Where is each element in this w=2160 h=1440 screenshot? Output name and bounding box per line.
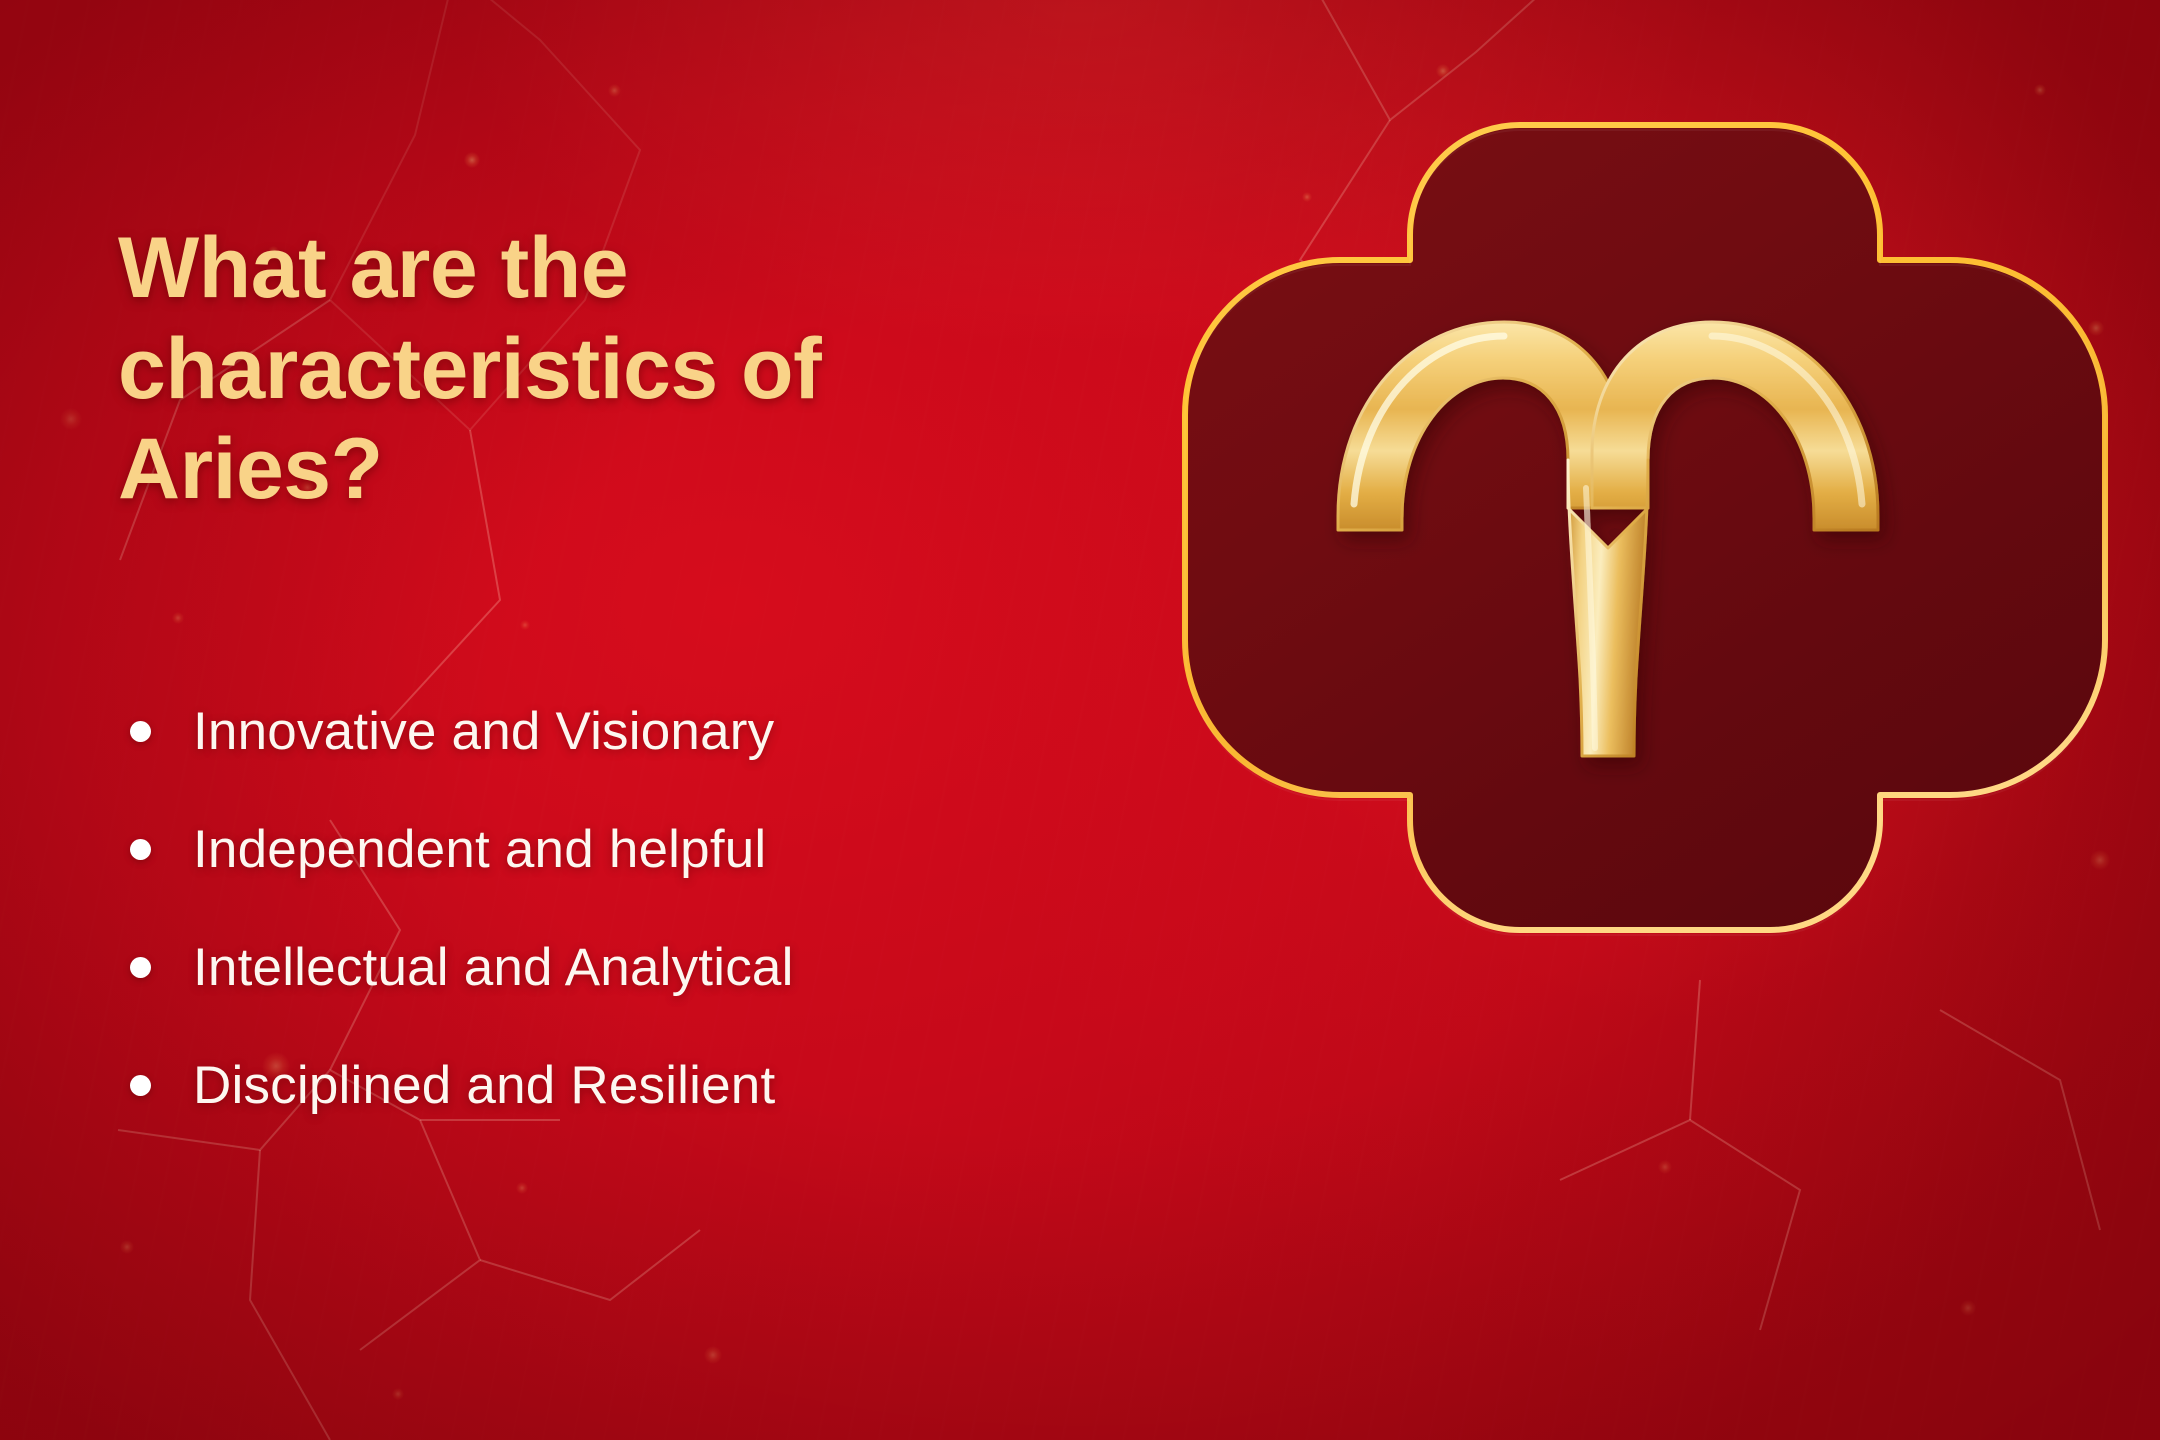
list-item: Independent and helpful <box>130 790 1110 908</box>
list-item-label: Independent and helpful <box>193 819 766 880</box>
page-title: What are the characteristics of Aries? <box>118 218 918 520</box>
bullet-dot-icon <box>130 839 151 860</box>
list-item: Intellectual and Analytical <box>130 908 1110 1026</box>
list-item-label: Innovative and Visionary <box>193 701 774 762</box>
characteristics-list: Innovative and Visionary Independent and… <box>130 672 1110 1144</box>
bullet-dot-icon <box>130 721 151 742</box>
list-item: Innovative and Visionary <box>130 672 1110 790</box>
content-column: What are the characteristics of Aries? I… <box>118 218 1118 520</box>
aries-symbol-icon <box>1318 278 1898 778</box>
list-item-label: Disciplined and Resilient <box>193 1055 775 1116</box>
bullet-dot-icon <box>130 957 151 978</box>
list-item-label: Intellectual and Analytical <box>193 937 794 998</box>
bullet-dot-icon <box>130 1075 151 1096</box>
list-item: Disciplined and Resilient <box>130 1026 1110 1144</box>
slide-canvas: What are the characteristics of Aries? I… <box>0 0 2160 1440</box>
